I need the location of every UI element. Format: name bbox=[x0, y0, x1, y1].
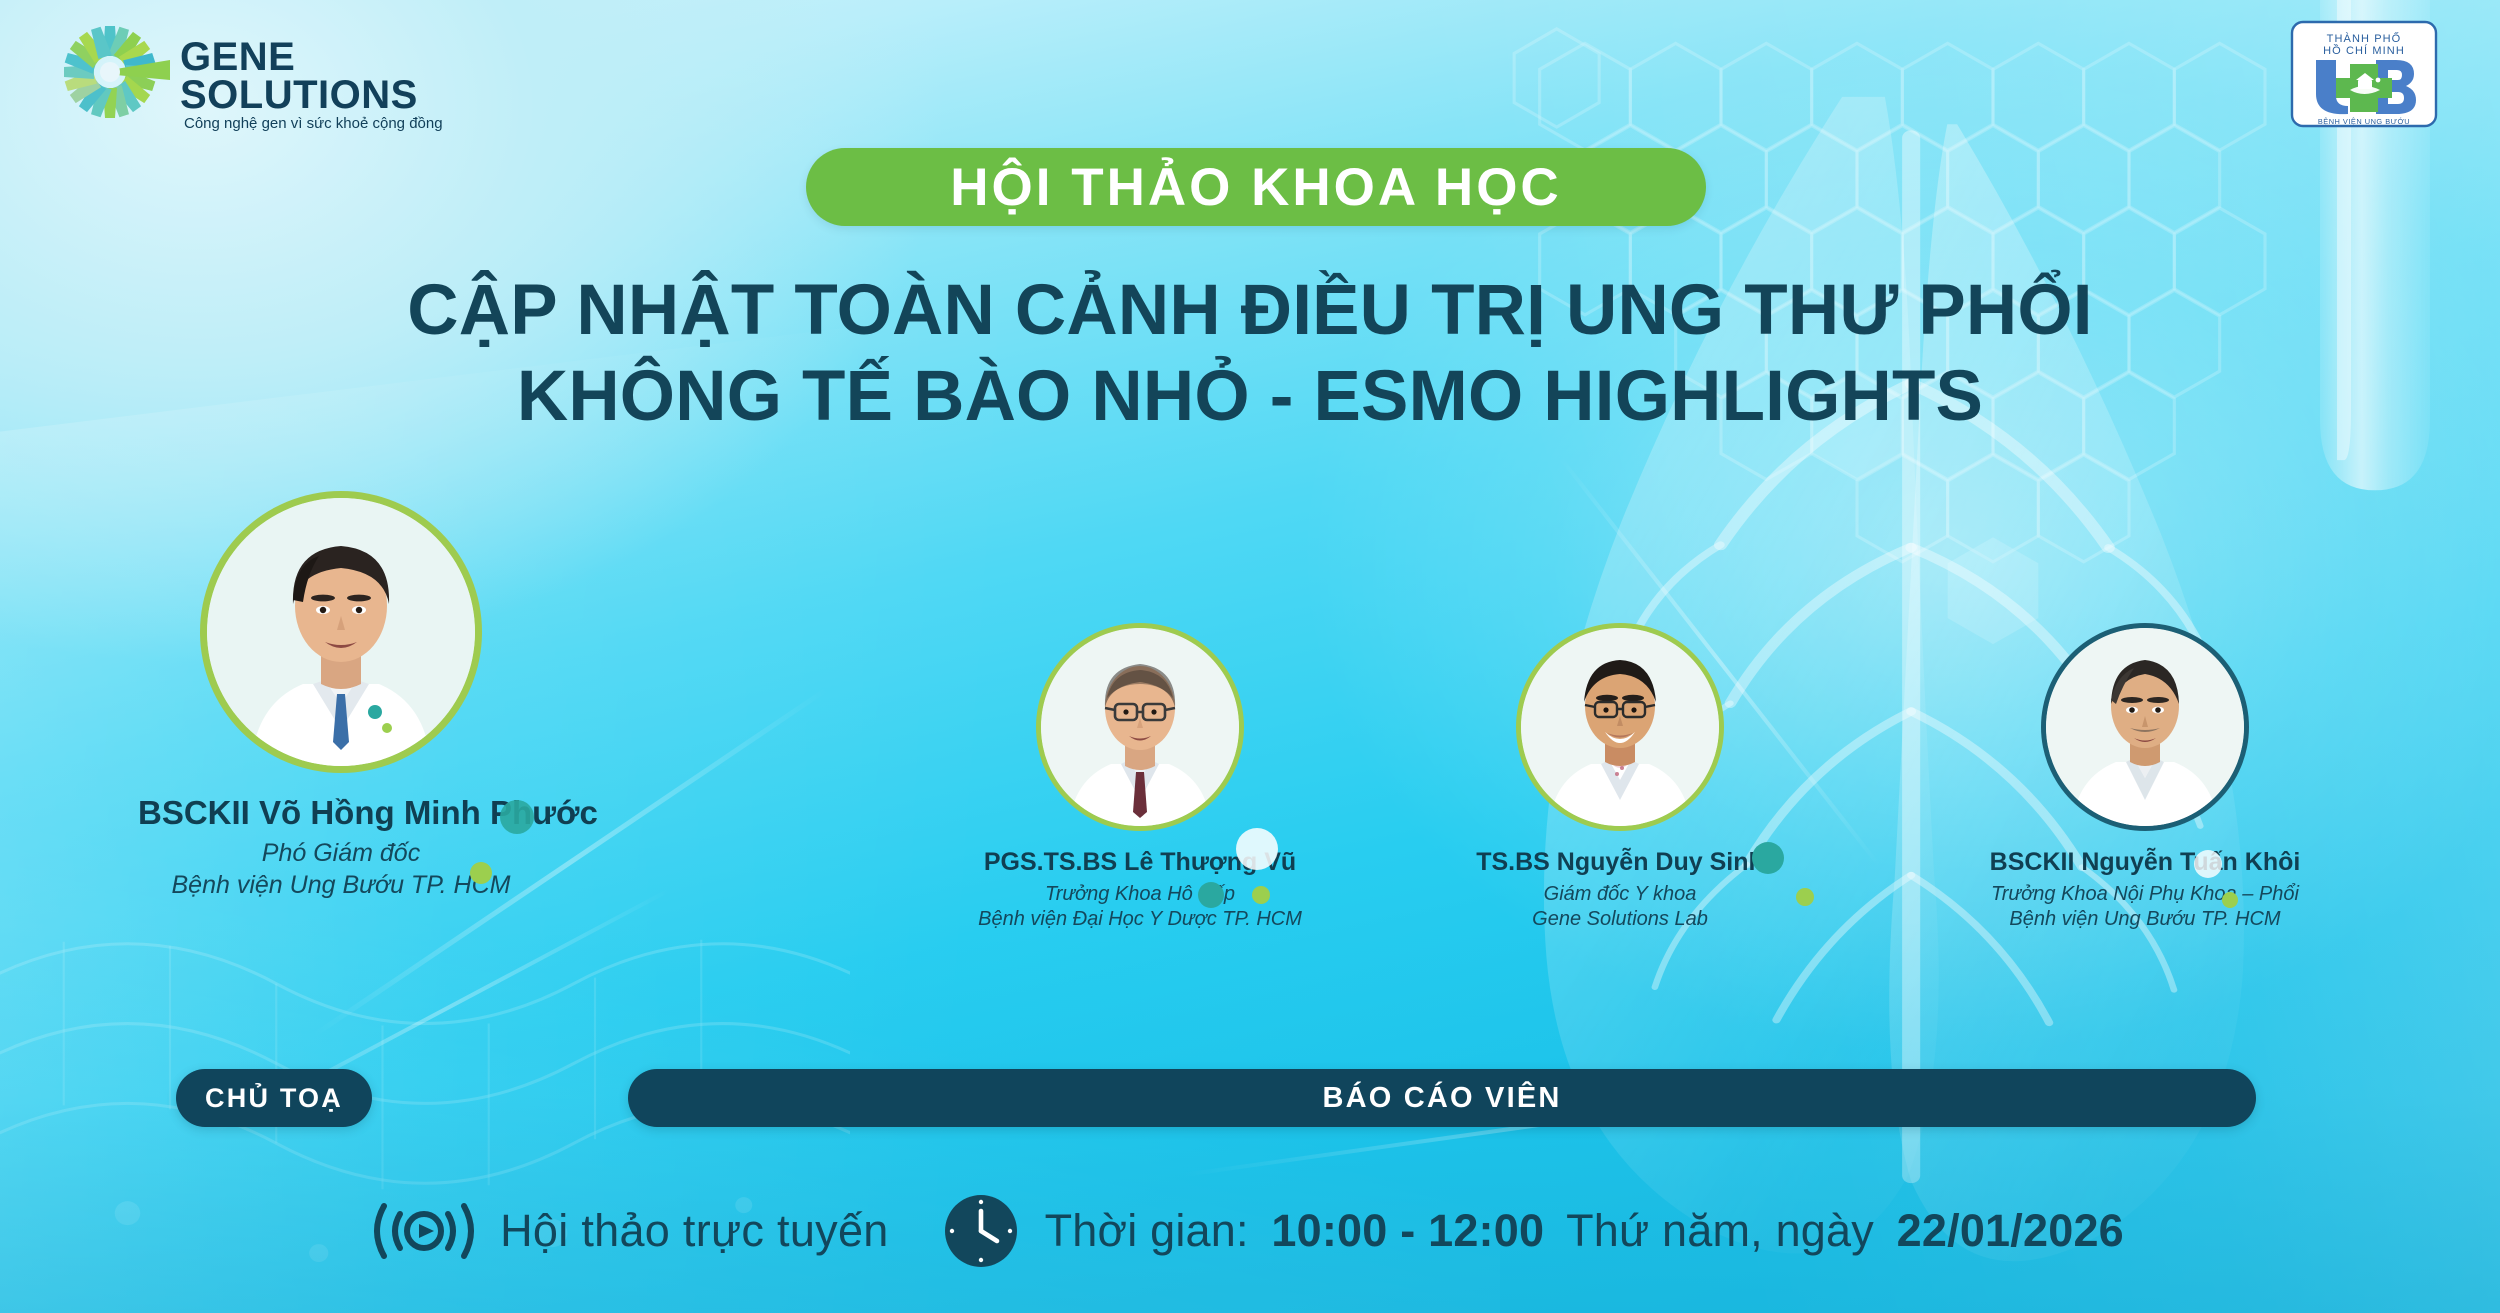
hospital-city-line2: HỒ CHÍ MINH bbox=[2323, 44, 2405, 57]
seminar-ribbon-banner: HỘI THẢO KHOA HỌC bbox=[806, 148, 1706, 226]
page-title: CẬP NHẬT TOÀN CẢNH ĐIỀU TRỊ UNG THƯ PHỔI… bbox=[0, 272, 2500, 436]
speaker-card-2: PGS.TS.BS Lê Thượng Vũ Trưởng Khoa Hô Hấ… bbox=[920, 628, 1360, 931]
speaker-3-role: Giám đốc Y khoa bbox=[1420, 883, 1820, 906]
speaker-2-avatar bbox=[1041, 628, 1239, 826]
speaker-4-role: Trưởng Khoa Nội Phụ Khoa – Phổi bbox=[1920, 883, 2370, 906]
accent-dot-teal bbox=[1752, 842, 1784, 874]
broadcast-wifi-icon bbox=[366, 1198, 482, 1264]
speaker-3-avatar bbox=[1521, 628, 1719, 826]
title-line-1: CẬP NHẬT TOÀN CẢNH ĐIỀU TRỊ UNG THƯ PHỔI bbox=[0, 272, 2500, 350]
accent-dot-teal bbox=[1198, 882, 1224, 908]
footer-info-bar: Hội thảo trực tuyến Thời gian: 10:00 - 1… bbox=[0, 1188, 2500, 1274]
speaker-3-affiliation: Gene Solutions Lab bbox=[1420, 908, 1820, 931]
badge-chair: CHỦ TOẠ bbox=[176, 1069, 372, 1127]
accent-dot-green bbox=[2222, 892, 2238, 908]
day-label: Thứ năm, ngày bbox=[1566, 1205, 1874, 1256]
accent-dot-green bbox=[470, 862, 492, 884]
speaker-4-name: BSCKII Nguyễn Tuấn Khôi bbox=[1920, 848, 2370, 877]
hospital-caption: BỆNH VIỆN UNG BƯỚU bbox=[2318, 117, 2410, 126]
speaker-1-name: BSCKII Võ Hồng Minh Phước bbox=[138, 794, 544, 832]
brand-name-line2: SOLUTIONS bbox=[180, 73, 418, 117]
clock-icon bbox=[943, 1193, 1019, 1269]
speaker-card-4: BSCKII Nguyễn Tuấn Khôi Trưởng Khoa Nội … bbox=[1920, 628, 2370, 931]
brand-tagline: Công nghệ gen vì sức khoẻ cộng đồng bbox=[184, 115, 443, 132]
accent-dot-green bbox=[1796, 888, 1814, 906]
hospital-monogram-ub bbox=[2316, 60, 2416, 114]
gene-solutions-logo: GENE SOLUTIONS Công nghệ gen vì sức khoẻ… bbox=[58, 22, 528, 134]
speaker-card-1: BSCKII Võ Hồng Minh Phước Phó Giám đốc B… bbox=[138, 498, 544, 900]
gene-solutions-sunburst-icon bbox=[64, 26, 170, 118]
time-prefix: Thời gian: bbox=[1045, 1205, 1249, 1256]
accent-dot-teal bbox=[500, 800, 534, 834]
speaker-card-3: TS.BS Nguyễn Duy Sinh Giám đốc Y khoa Ge… bbox=[1420, 628, 1820, 931]
time-range: 10:00 - 12:00 bbox=[1271, 1205, 1544, 1256]
online-label: Hội thảo trực tuyến bbox=[500, 1205, 889, 1257]
event-date: 22/01/2026 bbox=[1897, 1205, 2124, 1256]
badge-chair-label: CHỦ TOẠ bbox=[205, 1083, 343, 1114]
speaker-1-avatar bbox=[207, 498, 475, 766]
badge-presenter-label: BÁO CÁO VIÊN bbox=[1322, 1082, 1561, 1115]
accent-dot-green bbox=[1252, 886, 1270, 904]
speaker-4-avatar bbox=[2046, 628, 2244, 826]
speaker-2-affiliation: Bệnh viện Đại Học Y Dược TP. HCM bbox=[920, 908, 1360, 931]
time-group: Thời gian: 10:00 - 12:00 Thứ năm, ngày 2… bbox=[1045, 1205, 2134, 1257]
online-group: Hội thảo trực tuyến bbox=[366, 1198, 889, 1264]
accent-dot-white bbox=[1236, 828, 1278, 870]
badge-presenter: BÁO CÁO VIÊN bbox=[628, 1069, 2256, 1127]
speaker-2-role: Trưởng Khoa Hô Hấp bbox=[920, 883, 1360, 906]
hospital-logo: THÀNH PHỐ HỒ CHÍ MINH BỆNH VIỆN UNG BƯỚU bbox=[2288, 18, 2440, 130]
speaker-2-name: PGS.TS.BS Lê Thượng Vũ bbox=[920, 848, 1360, 877]
speaker-4-affiliation: Bệnh viện Ung Bướu TP. HCM bbox=[1920, 908, 2370, 931]
title-line-2: KHÔNG TẾ BÀO NHỎ - ESMO HIGHLIGHTS bbox=[0, 358, 2500, 436]
hospital-city-line1: THÀNH PHỐ bbox=[2327, 31, 2402, 45]
ribbon-label: HỘI THẢO KHOA HỌC bbox=[950, 157, 1561, 218]
accent-dot-white bbox=[2194, 850, 2222, 878]
